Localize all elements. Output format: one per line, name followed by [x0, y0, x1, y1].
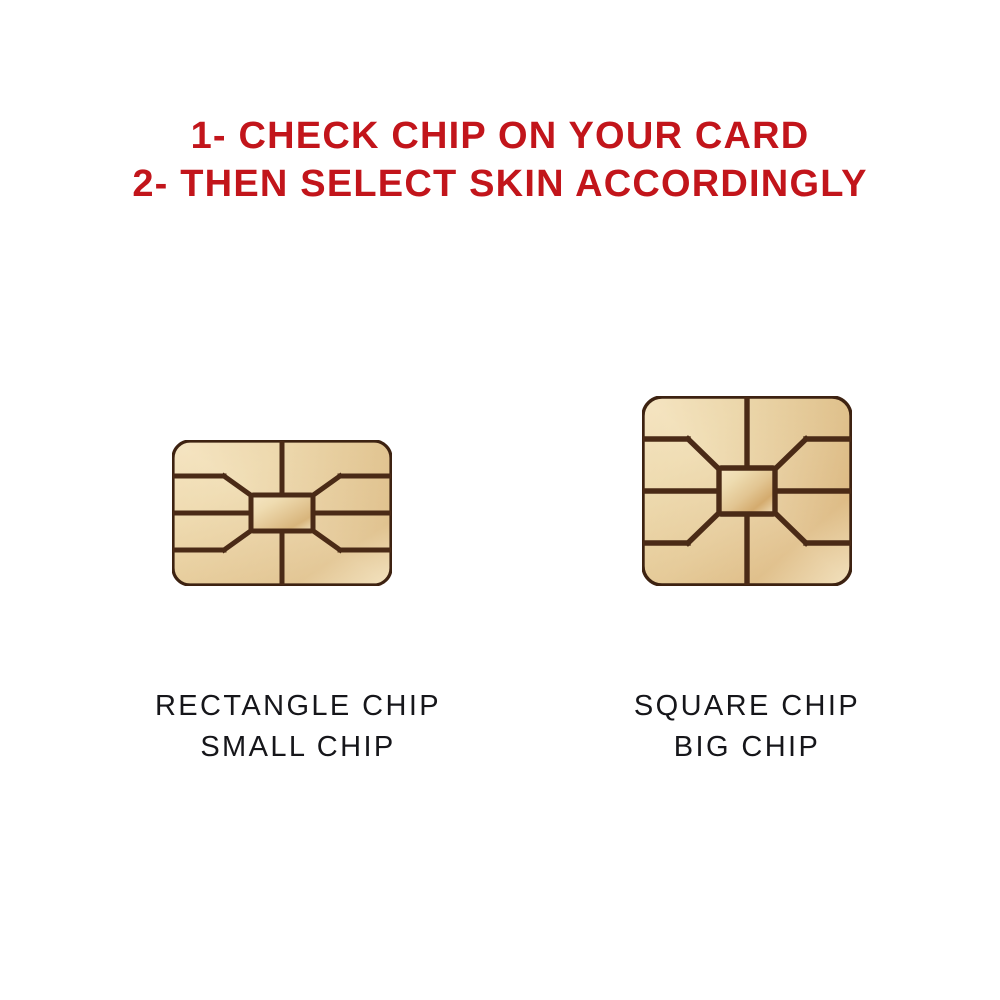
instructions-block: 1- CHECK CHIP ON YOUR CARD 2- THEN SELEC…: [0, 112, 1000, 208]
chip-images-row: [0, 330, 1000, 590]
square-chip-cell: [540, 330, 960, 590]
square-chip-caption-line-2: BIG CHIP: [547, 727, 947, 768]
square-chip-caption: SQUARE CHIP BIG CHIP: [547, 686, 947, 768]
square-chip-caption-line-1: SQUARE CHIP: [547, 686, 947, 727]
chip-captions: RECTANGLE CHIP SMALL CHIP SQUARE CHIP BI…: [0, 686, 1000, 786]
rectangle-chip-caption-line-1: RECTANGLE CHIP: [78, 686, 518, 727]
rectangle-chip-caption: RECTANGLE CHIP SMALL CHIP: [78, 686, 518, 768]
chip-selection-graphic: 1- CHECK CHIP ON YOUR CARD 2- THEN SELEC…: [0, 0, 1000, 1000]
rectangle-chip-image: [172, 440, 392, 586]
emv-chip-rectangle-icon: [172, 440, 392, 586]
instruction-line-2: 2- THEN SELECT SKIN ACCORDINGLY: [0, 160, 1000, 208]
rectangle-chip-caption-line-2: SMALL CHIP: [78, 727, 518, 768]
emv-chip-square-icon: [642, 396, 852, 586]
square-chip-image: [642, 396, 852, 586]
instruction-line-1: 1- CHECK CHIP ON YOUR CARD: [0, 112, 1000, 160]
chip-center-pad: [719, 468, 775, 514]
chip-center-pad: [251, 495, 313, 531]
rectangle-chip-cell: [60, 330, 540, 590]
